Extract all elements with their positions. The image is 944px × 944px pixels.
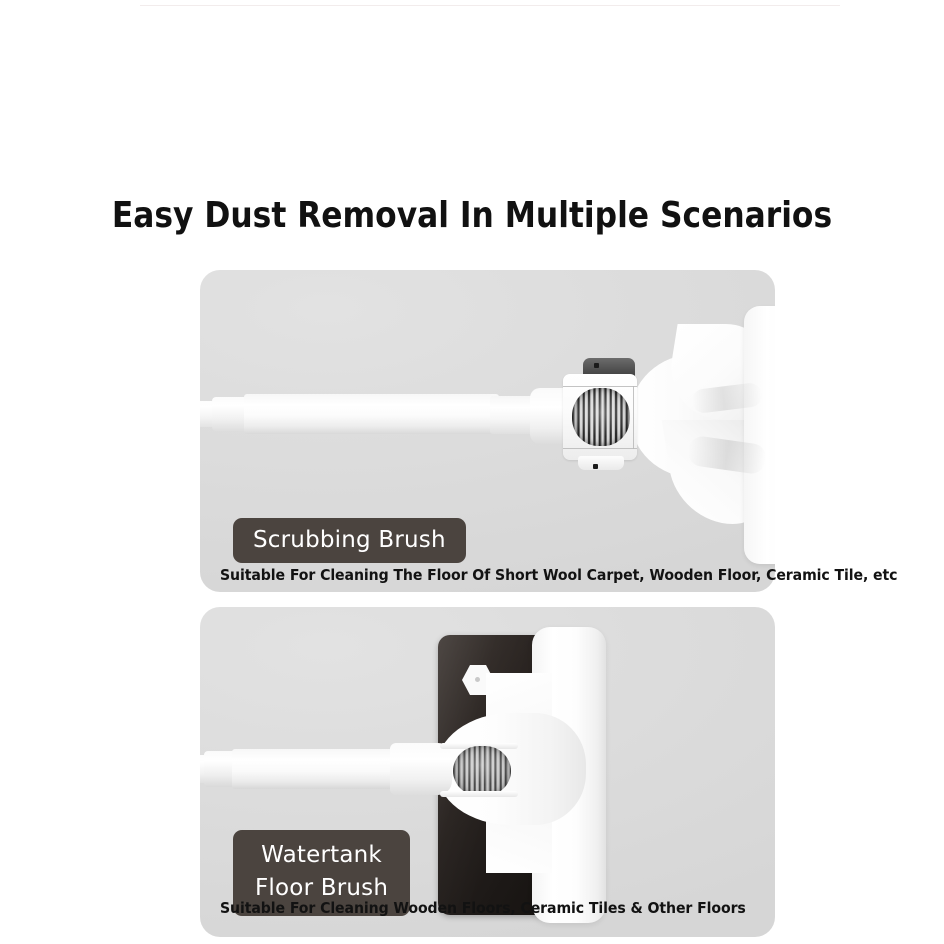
product-feature-page: Innovative Combination Brush Head Easy D… [0, 0, 944, 944]
joint-bottom-foot-icon [578, 456, 624, 470]
panel-badge-watertank-floor-brush: Watertank Floor Brush [233, 830, 410, 916]
badge-label-line2: Floor Brush [255, 872, 388, 905]
panel-image-scrubbing-brush: Scrubbing Brush [200, 270, 775, 592]
swivel-neck-2-icon [390, 743, 452, 795]
hose-clamp-seam-right-icon [633, 386, 634, 449]
badge-label-line1: Scrubbing Brush [253, 526, 446, 554]
feature-panel-scrubbing-brush: Scrubbing Brush [200, 270, 775, 592]
corrugated-hose-icon [572, 388, 630, 446]
hose-clamp-bottom-2-icon [440, 791, 518, 797]
joint-screw-top-icon [594, 363, 599, 368]
wand-main-tube-2-icon [232, 749, 400, 789]
hose-clamp-seam-bottom-icon [563, 448, 637, 449]
feature-panel-watertank-floor-brush: Watertank Floor Brush [200, 607, 775, 937]
hose-clamp-seam-top-icon [563, 386, 637, 387]
badge-label-line1: Watertank [261, 839, 382, 872]
corrugated-hose-2-icon [453, 746, 511, 796]
joint-screw-bottom-icon [593, 464, 598, 469]
page-subtitle: Easy Dust Removal In Multiple Scenarios [61, 192, 882, 240]
brush-head-faceplate-icon [744, 306, 775, 564]
page-title: Innovative Combination Brush Head [76, 18, 869, 150]
panel-badge-scrubbing-brush: Scrubbing Brush [233, 518, 466, 563]
wand-main-tube-icon [244, 394, 499, 434]
panel-image-watertank-floor-brush: Watertank Floor Brush [200, 607, 775, 937]
top-divider [140, 5, 840, 6]
water-tank-hex-cap-center-icon [475, 677, 480, 682]
